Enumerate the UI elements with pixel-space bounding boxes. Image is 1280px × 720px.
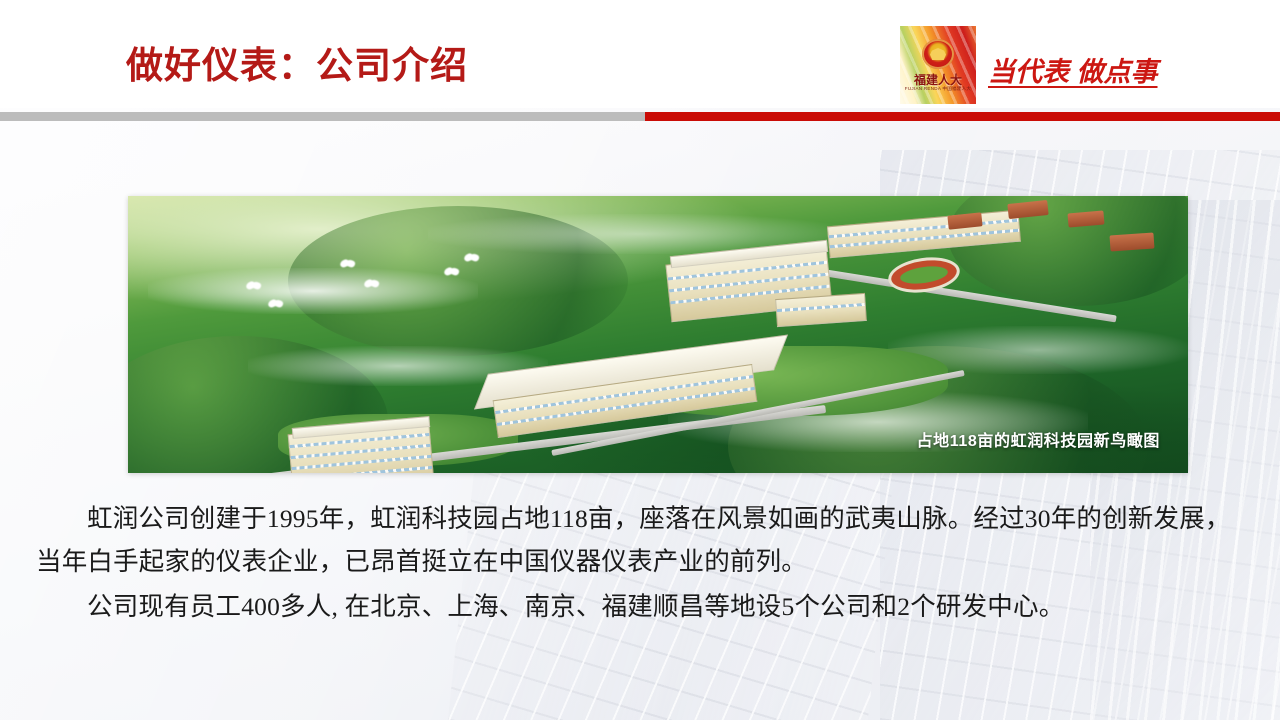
national-emblem-icon — [922, 39, 954, 69]
fujian-peoples-congress-logo-icon: 福建人大 FUJIAN RENDA 中国福建人大 — [900, 26, 976, 104]
photo-caption: 占地118亩的虹润科技园新鸟瞰图 — [917, 427, 1160, 451]
villa-roof — [1109, 232, 1154, 251]
page-title: 做好仪表：公司介绍 — [126, 44, 468, 88]
slide-header: 做好仪表：公司介绍 福建人大 FUJIAN RENDA 中国福建人大 当代表 做… — [0, 0, 1280, 108]
body-text-block: 虹润公司创建于1995年，虹润科技园占地118亩，座落在风景如画的武夷山脉。经过… — [36, 497, 1244, 628]
brand-slogan: 当代表 做点事 — [988, 50, 1158, 89]
slide-canvas: 做好仪表：公司介绍 福建人大 FUJIAN RENDA 中国福建人大 当代表 做… — [0, 0, 1280, 720]
building-windows — [777, 303, 865, 312]
body-paragraph-2: 公司现有员工400多人, 在北京、上海、南京、福建顺昌等地设5个公司和2个研发中… — [36, 585, 1244, 628]
divider-red-segment — [645, 112, 1280, 121]
divider-gray-segment — [0, 112, 645, 121]
body-paragraph-1: 虹润公司创建于1995年，虹润科技园占地118亩，座落在风景如画的武夷山脉。经过… — [36, 497, 1244, 583]
aerial-view-photo: 占地118亩的虹润科技园新鸟瞰图 — [128, 196, 1188, 473]
logo-subtext: FUJIAN RENDA 中国福建人大 — [900, 86, 976, 92]
header-divider — [0, 112, 1280, 121]
